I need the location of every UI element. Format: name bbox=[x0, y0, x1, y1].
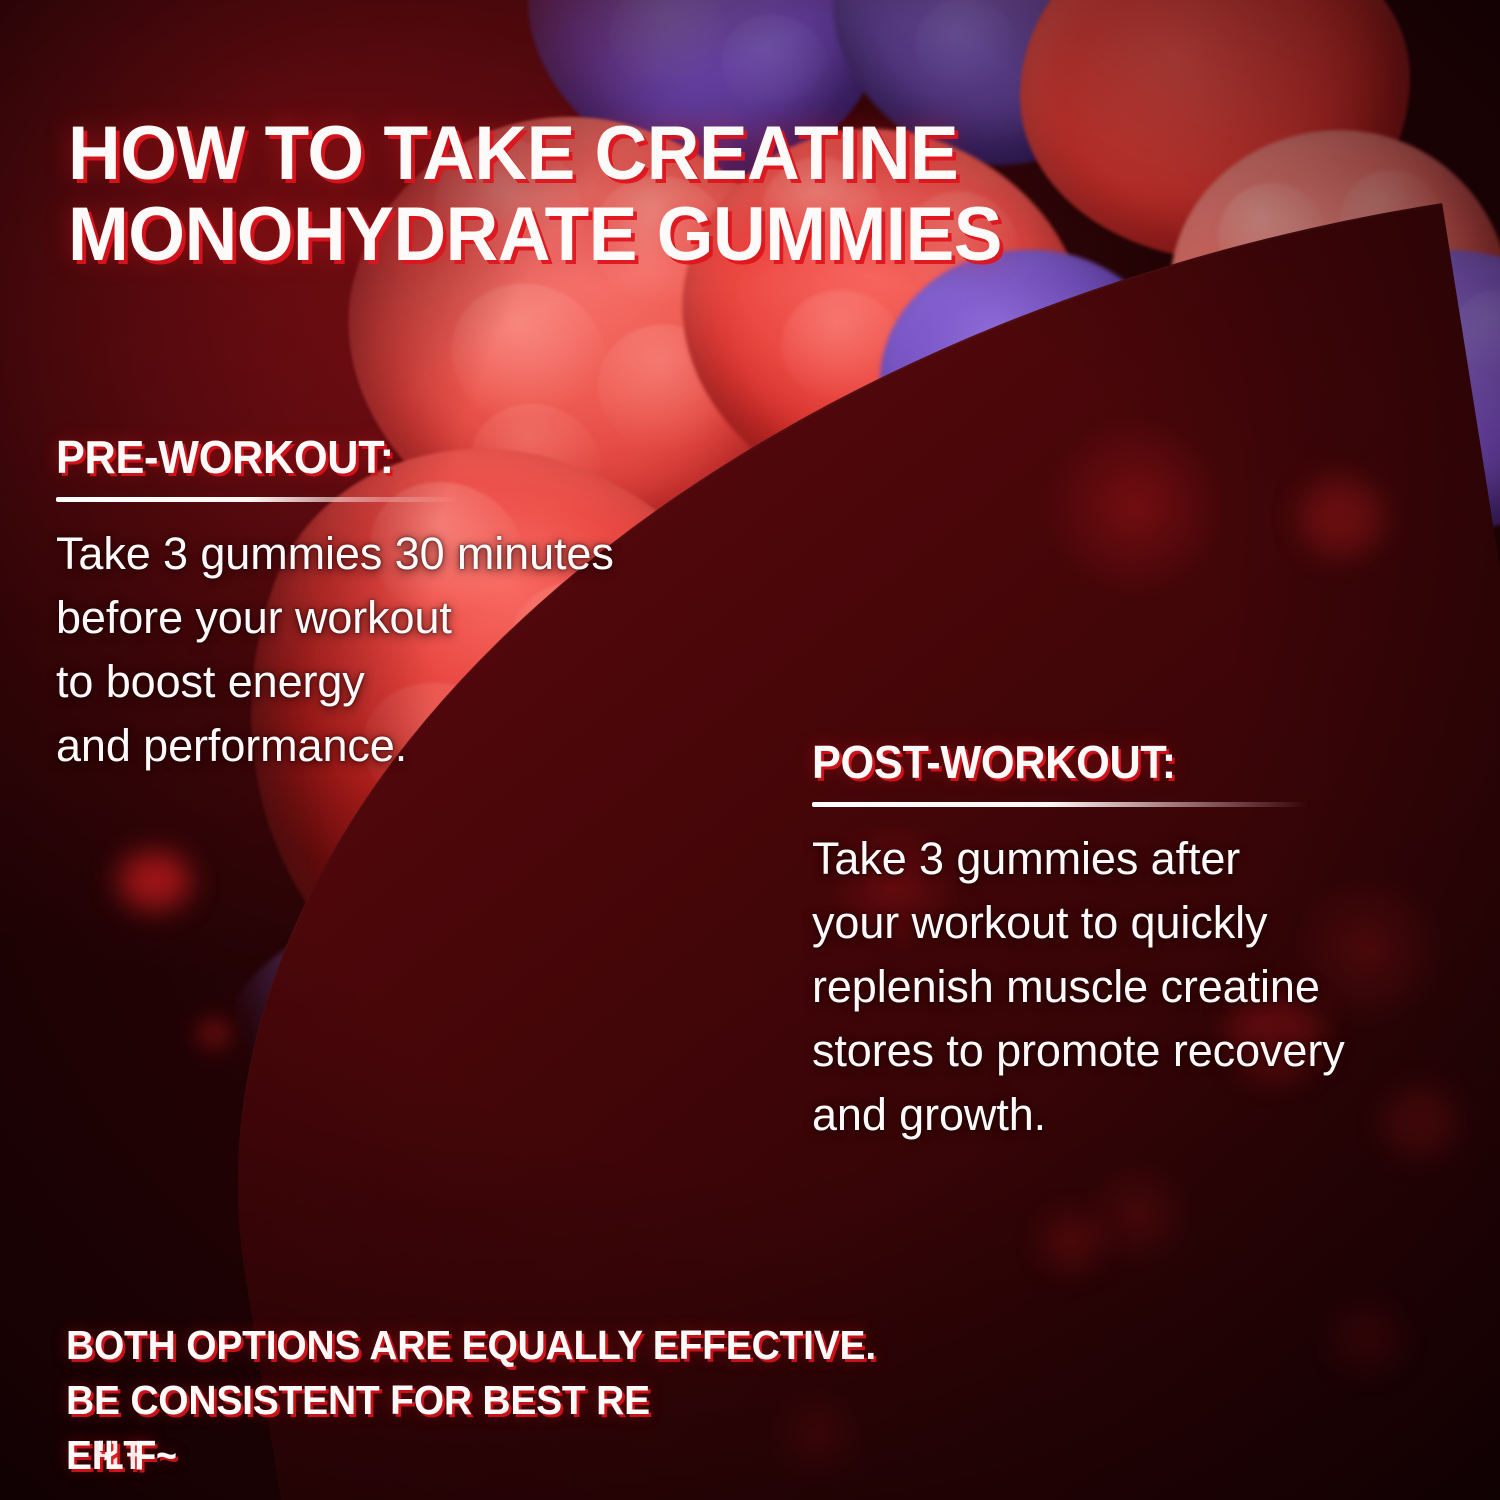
footer-glitch-artifact: EH'ŁŦF~ bbox=[66, 1428, 1301, 1483]
post-workout-body: Take 3 gummies after your workout to qui… bbox=[812, 827, 1472, 1146]
post-workout-heading: POST-WORKOUT: bbox=[812, 735, 1432, 789]
pre-workout-rule bbox=[56, 497, 460, 502]
pre-workout-line: Take 3 gummies 30 minutes bbox=[56, 522, 756, 586]
pre-workout-line: to boost energy bbox=[56, 650, 756, 714]
footer-line-2: BE CONSISTENT FOR BEST REEH'ŁŦF~ bbox=[66, 1373, 1301, 1483]
post-workout-line: replenish muscle creatine bbox=[812, 955, 1472, 1019]
pre-workout-heading: PRE-WORKOUT: bbox=[56, 430, 714, 484]
promo-poster: HOW TO TAKE CREATINE MONOHYDRATE GUMMIES… bbox=[0, 0, 1500, 1500]
content-layer: HOW TO TAKE CREATINE MONOHYDRATE GUMMIES… bbox=[0, 0, 1500, 1500]
title-line-2: MONOHYDRATE GUMMIES bbox=[68, 194, 1287, 275]
pre-workout-body: Take 3 gummies 30 minutes before your wo… bbox=[56, 522, 756, 778]
page-title: HOW TO TAKE CREATINE MONOHYDRATE GUMMIES bbox=[68, 113, 1287, 276]
post-workout-line: and growth. bbox=[812, 1083, 1472, 1147]
footer-line-2-text: BE CONSISTENT FOR BEST RE bbox=[66, 1373, 1301, 1428]
title-line-1: HOW TO TAKE CREATINE bbox=[68, 111, 958, 196]
post-workout-line: stores to promote recovery bbox=[812, 1019, 1472, 1083]
footer-line-1: BOTH OPTIONS ARE EQUALLY EFFECTIVE. bbox=[66, 1318, 1301, 1373]
glitch-part-c: F~ bbox=[134, 1427, 176, 1483]
section-pre-workout: PRE-WORKOUT: Take 3 gummies 30 minutes b… bbox=[56, 430, 756, 778]
post-workout-line: Take 3 gummies after bbox=[812, 827, 1472, 891]
section-post-workout: POST-WORKOUT: Take 3 gummies after your … bbox=[812, 735, 1472, 1146]
pre-workout-line: and performance. bbox=[56, 714, 756, 778]
pre-workout-line: before your workout bbox=[56, 586, 756, 650]
footer-note: BOTH OPTIONS ARE EQUALLY EFFECTIVE. BE C… bbox=[66, 1318, 1301, 1483]
post-workout-line: your workout to quickly bbox=[812, 891, 1472, 955]
post-workout-rule bbox=[812, 802, 1307, 807]
